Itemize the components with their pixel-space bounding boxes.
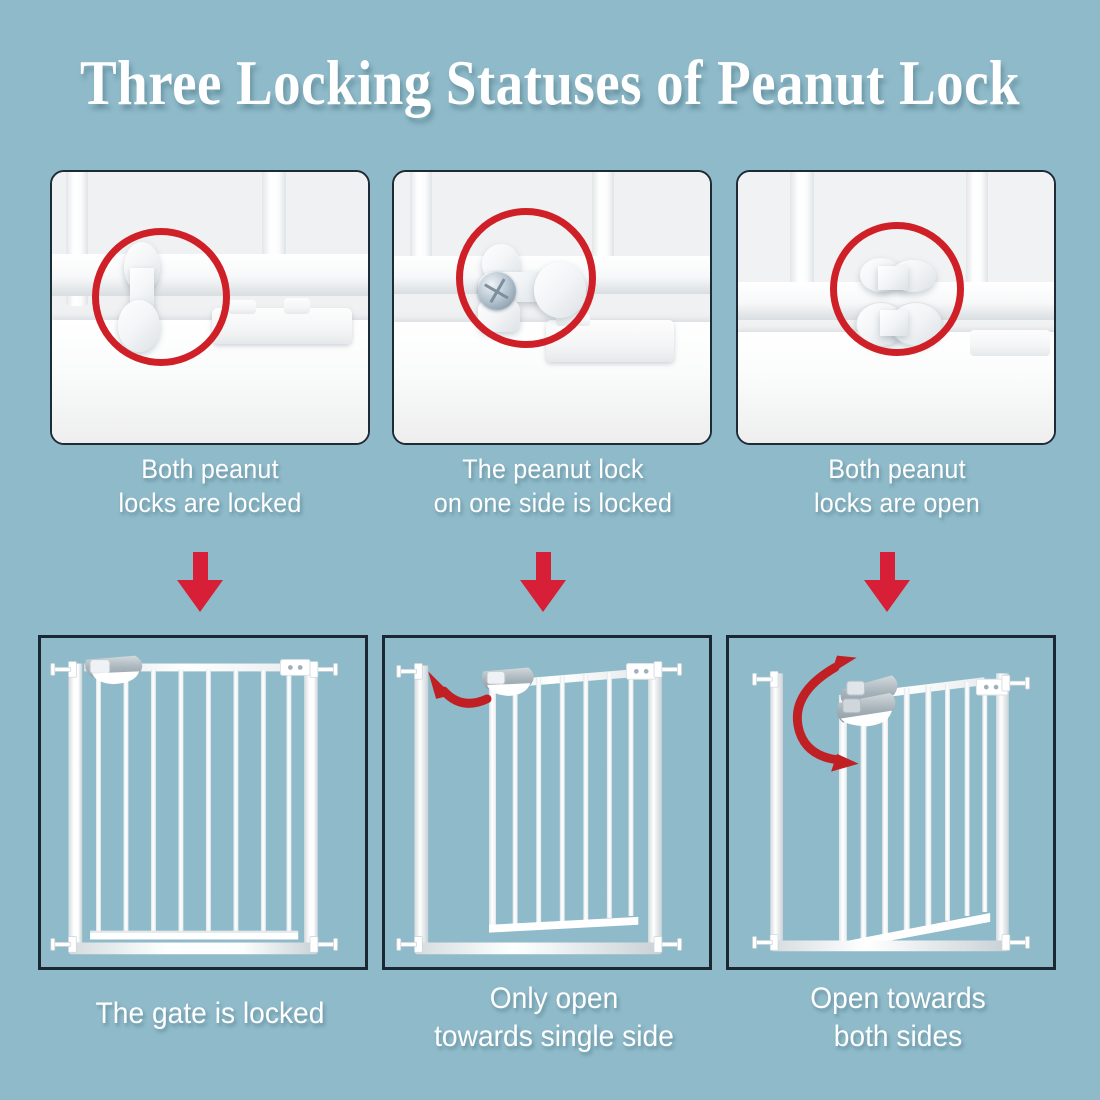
swing-arrow-single-icon: [428, 671, 487, 703]
gate-caption-locked: The gate is locked: [40, 995, 380, 1033]
photo-caption-one-side-locked: The peanut lock on one side is locked: [400, 452, 707, 520]
photo-both-open-image: [738, 172, 1054, 443]
photo-card-both-open: [736, 170, 1056, 445]
caption-line-2: locks are open: [744, 486, 1051, 520]
caption-line-1: The gate is locked: [50, 995, 370, 1033]
caption-line-1: Both peanut: [744, 452, 1051, 486]
highlight-circle-1: [92, 228, 230, 366]
caption-line-1: Both peanut: [57, 452, 364, 486]
gate-diagram-both-sides: [726, 635, 1056, 970]
down-arrow-icon-1: [177, 552, 223, 612]
photo-row: [0, 170, 1100, 445]
photo-card-both-locked: [50, 170, 370, 445]
caption-line-2: on one side is locked: [400, 486, 707, 520]
highlight-circle-2: [456, 208, 596, 348]
photo-card-one-side-locked: [392, 170, 712, 445]
caption-line-1: The peanut lock: [400, 452, 707, 486]
photo-caption-both-locked: Both peanut locks are locked: [57, 452, 364, 520]
down-arrow-icon-2: [520, 552, 566, 612]
down-arrow-icon-3: [864, 552, 910, 612]
infographic-stage: Three Locking Statuses of Peanut Lock: [0, 0, 1100, 1100]
caption-line-1: Only open: [394, 980, 714, 1018]
highlight-circle-3: [830, 222, 964, 356]
caption-line-2: towards single side: [394, 1018, 714, 1056]
caption-line-2: locks are locked: [57, 486, 364, 520]
gate-caption-both-sides: Open towards both sides: [728, 980, 1068, 1056]
gate-caption-single-side: Only open towards single side: [384, 980, 724, 1056]
caption-line-2: both sides: [738, 1018, 1058, 1056]
photo-one-side-locked-image: [394, 172, 710, 443]
page-title: Three Locking Statuses of Peanut Lock: [77, 48, 1023, 118]
gate-diagram-locked: [38, 635, 368, 970]
gate-diagram-single-side: [382, 635, 712, 970]
gate-single-side-drawing: [385, 638, 709, 967]
caption-line-1: Open towards: [738, 980, 1058, 1018]
swing-arrow-double-icon: [797, 656, 858, 772]
gate-diagram-row: [0, 635, 1100, 970]
gate-locked-drawing: [41, 638, 365, 967]
gate-both-sides-drawing: [729, 638, 1053, 967]
photo-both-locked-image: [52, 172, 368, 443]
photo-caption-both-open: Both peanut locks are open: [744, 452, 1051, 520]
